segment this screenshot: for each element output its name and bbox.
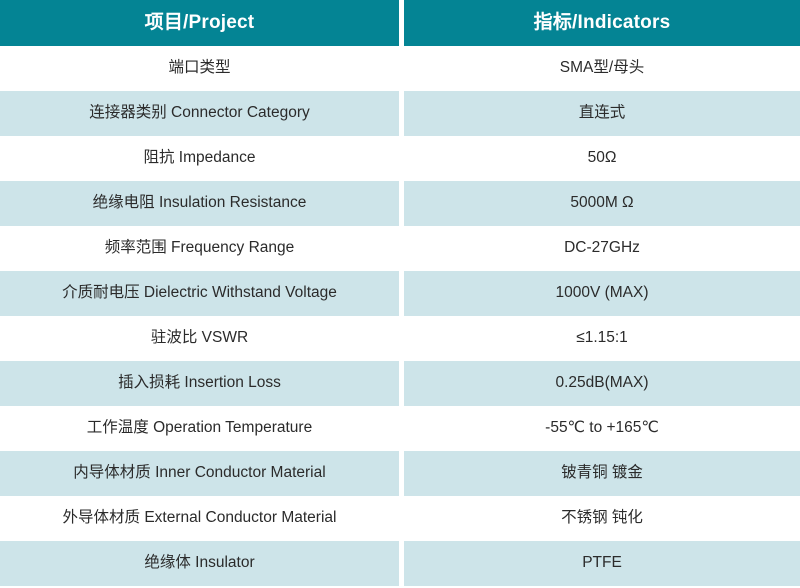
cell-project: 绝缘电阻 Insulation Resistance bbox=[0, 181, 399, 226]
cell-project: 端口类型 bbox=[0, 46, 399, 91]
cell-project: 频率范围 Frequency Range bbox=[0, 226, 399, 271]
column-header-indicators: 指标/Indicators bbox=[404, 0, 800, 46]
cell-project: 外导体材质 External Conductor Material bbox=[0, 496, 399, 541]
cell-project: 工作温度 Operation Temperature bbox=[0, 406, 399, 451]
cell-indicator: -55℃ to +165℃ bbox=[404, 406, 800, 451]
table-row: 内导体材质 Inner Conductor Material铍青铜 镀金 bbox=[0, 451, 800, 496]
cell-indicator: 铍青铜 镀金 bbox=[404, 451, 800, 496]
table-row: 连接器类别 Connector Category直连式 bbox=[0, 91, 800, 136]
column-header-project: 项目/Project bbox=[0, 0, 399, 46]
cell-project: 内导体材质 Inner Conductor Material bbox=[0, 451, 399, 496]
table-body: 端口类型SMA型/母头连接器类别 Connector Category直连式阻抗… bbox=[0, 46, 800, 586]
cell-indicator: 0.25dB(MAX) bbox=[404, 361, 800, 406]
cell-project: 驻波比 VSWR bbox=[0, 316, 399, 361]
table-row: 插入损耗 Insertion Loss0.25dB(MAX) bbox=[0, 361, 800, 406]
cell-project: 绝缘体 Insulator bbox=[0, 541, 399, 586]
cell-indicator: PTFE bbox=[404, 541, 800, 586]
cell-indicator: ≤1.15:1 bbox=[404, 316, 800, 361]
cell-indicator: 50Ω bbox=[404, 136, 800, 181]
cell-indicator: 1000V (MAX) bbox=[404, 271, 800, 316]
table-row: 阻抗 Impedance50Ω bbox=[0, 136, 800, 181]
cell-project: 阻抗 Impedance bbox=[0, 136, 399, 181]
table-row: 绝缘体 InsulatorPTFE bbox=[0, 541, 800, 586]
table-row: 端口类型SMA型/母头 bbox=[0, 46, 800, 91]
table-row: 频率范围 Frequency RangeDC-27GHz bbox=[0, 226, 800, 271]
table-header-row: 项目/Project 指标/Indicators bbox=[0, 0, 800, 46]
table-row: 驻波比 VSWR≤1.15:1 bbox=[0, 316, 800, 361]
cell-indicator: 5000M Ω bbox=[404, 181, 800, 226]
table-row: 外导体材质 External Conductor Material不锈钢 钝化 bbox=[0, 496, 800, 541]
cell-indicator: 直连式 bbox=[404, 91, 800, 136]
cell-indicator: 不锈钢 钝化 bbox=[404, 496, 800, 541]
table-row: 介质耐电压 Dielectric Withstand Voltage1000V … bbox=[0, 271, 800, 316]
table-row: 绝缘电阻 Insulation Resistance5000M Ω bbox=[0, 181, 800, 226]
specification-table: 项目/Project 指标/Indicators 端口类型SMA型/母头连接器类… bbox=[0, 0, 800, 588]
cell-indicator: SMA型/母头 bbox=[404, 46, 800, 91]
cell-project: 介质耐电压 Dielectric Withstand Voltage bbox=[0, 271, 399, 316]
cell-project: 连接器类别 Connector Category bbox=[0, 91, 399, 136]
table-row: 工作温度 Operation Temperature-55℃ to +165℃ bbox=[0, 406, 800, 451]
cell-indicator: DC-27GHz bbox=[404, 226, 800, 271]
cell-project: 插入损耗 Insertion Loss bbox=[0, 361, 399, 406]
